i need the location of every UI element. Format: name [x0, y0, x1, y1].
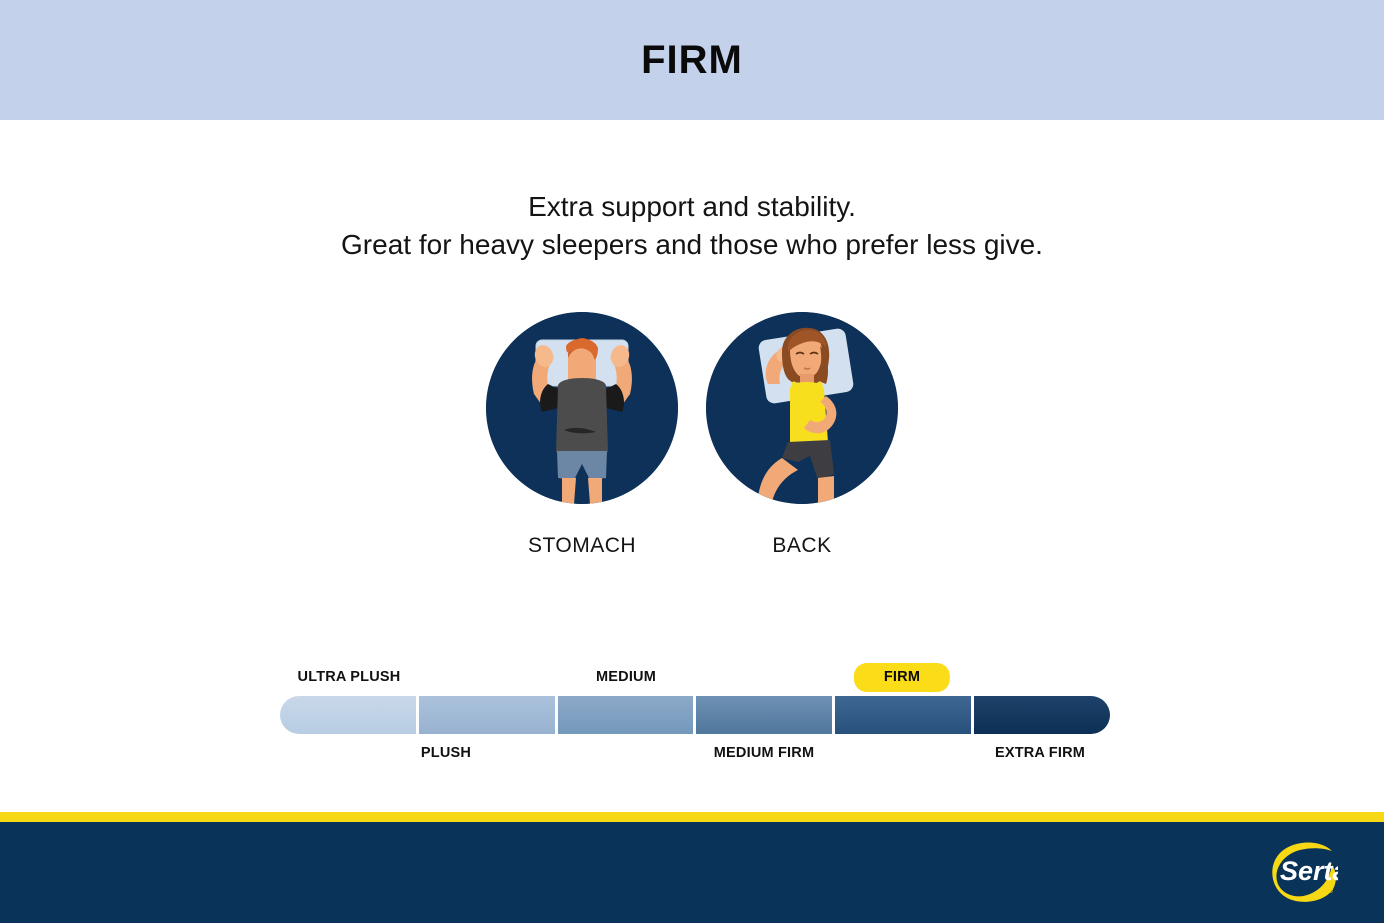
firmness-segment-medium-firm[interactable]: [696, 696, 832, 734]
sleep-position-back: BACK: [706, 312, 898, 558]
page-header: FIRM: [0, 0, 1384, 120]
sleep-position-label: STOMACH: [528, 534, 636, 558]
firmness-segment-plush[interactable]: [419, 696, 555, 734]
footer-accent-stripe: [0, 812, 1384, 822]
firmness-labels-top: ULTRA PLUSH MEDIUM FIRM: [280, 665, 1110, 691]
person-sleeping-back-icon: [706, 312, 898, 504]
sleep-position-label: BACK: [772, 534, 831, 558]
subtitle-line-2: Great for heavy sleepers and those who p…: [0, 226, 1384, 264]
person-sleeping-stomach-icon: [486, 312, 678, 504]
firmness-segment-extra-firm[interactable]: [974, 696, 1110, 734]
page-title: FIRM: [641, 38, 743, 83]
sleep-positions: STOMACH: [0, 312, 1384, 558]
firmness-labels-bottom: PLUSH MEDIUM FIRM EXTRA FIRM: [280, 741, 1110, 767]
serta-logo-trademark: ®: [1328, 887, 1334, 895]
subtitle-line-1: Extra support and stability.: [0, 188, 1384, 226]
serta-logo-text: Serta: [1280, 856, 1338, 886]
subtitle-block: Extra support and stability. Great for h…: [0, 188, 1384, 264]
firmness-bar[interactable]: [280, 696, 1110, 734]
firmness-label-firm-selected[interactable]: FIRM: [854, 663, 950, 692]
firmness-label-medium[interactable]: MEDIUM: [596, 669, 656, 685]
firmness-label-ultra-plush[interactable]: ULTRA PLUSH: [298, 669, 401, 685]
page-footer: Serta ®: [0, 822, 1384, 923]
firmness-segment-firm[interactable]: [835, 696, 971, 734]
firmness-segment-medium[interactable]: [558, 696, 694, 734]
serta-logo: Serta ®: [1268, 838, 1338, 906]
firmness-label-plush[interactable]: PLUSH: [421, 745, 471, 761]
firmness-scale: ULTRA PLUSH MEDIUM FIRM PLUSH MEDIUM FIR…: [280, 665, 1110, 767]
sleep-position-stomach: STOMACH: [486, 312, 678, 558]
firmness-label-medium-firm[interactable]: MEDIUM FIRM: [714, 745, 814, 761]
firmness-segment-ultra-plush[interactable]: [280, 696, 416, 734]
firmness-label-extra-firm[interactable]: EXTRA FIRM: [995, 745, 1085, 761]
